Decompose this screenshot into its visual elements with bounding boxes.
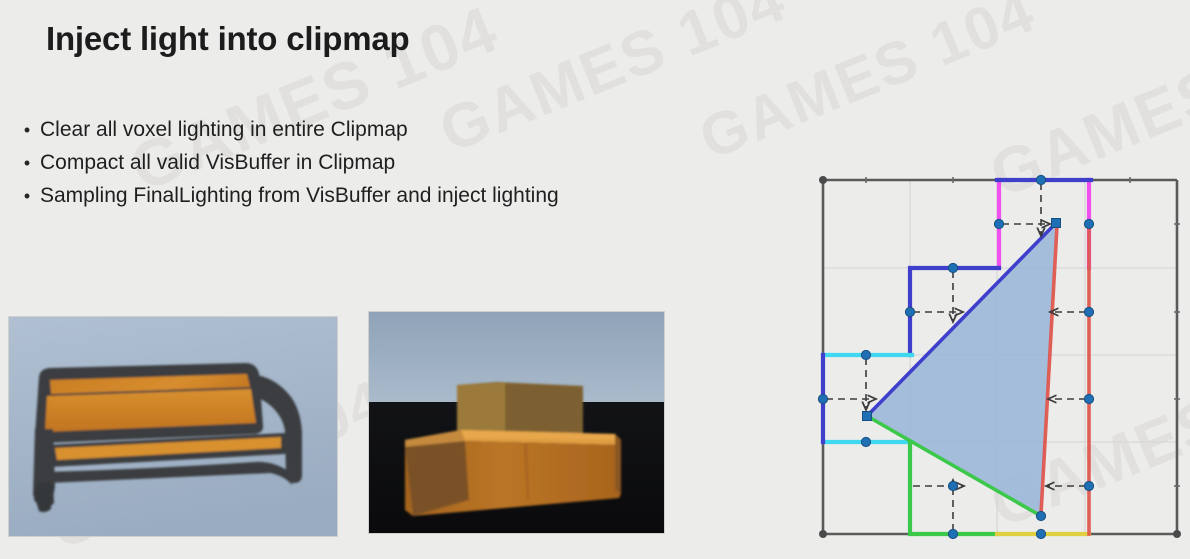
clipmap-voxel-injection-diagram	[760, 140, 1190, 550]
list-item: • Compact all valid VisBuffer in Clipmap	[14, 150, 754, 176]
bullet-marker-icon: •	[14, 150, 40, 176]
bullet-marker-icon: •	[14, 117, 40, 143]
bullet-marker-icon: •	[14, 183, 40, 209]
bullet-text: Clear all voxel lighting in entire Clipm…	[40, 117, 408, 143]
bench-voxel-image	[368, 311, 665, 534]
bullet-list: • Clear all voxel lighting in entire Cli…	[14, 117, 754, 216]
slide-title: Inject light into clipmap	[46, 20, 410, 58]
bench-render-image	[8, 316, 338, 537]
list-item: • Clear all voxel lighting in entire Cli…	[14, 117, 754, 143]
bullet-text: Sampling FinalLighting from VisBuffer an…	[40, 183, 559, 209]
list-item: • Sampling FinalLighting from VisBuffer …	[14, 183, 754, 209]
slide-canvas: GAMES 104 GAMES 104 GAMES 104 GAMES 104 …	[0, 0, 1190, 559]
bullet-text: Compact all valid VisBuffer in Clipmap	[40, 150, 395, 176]
